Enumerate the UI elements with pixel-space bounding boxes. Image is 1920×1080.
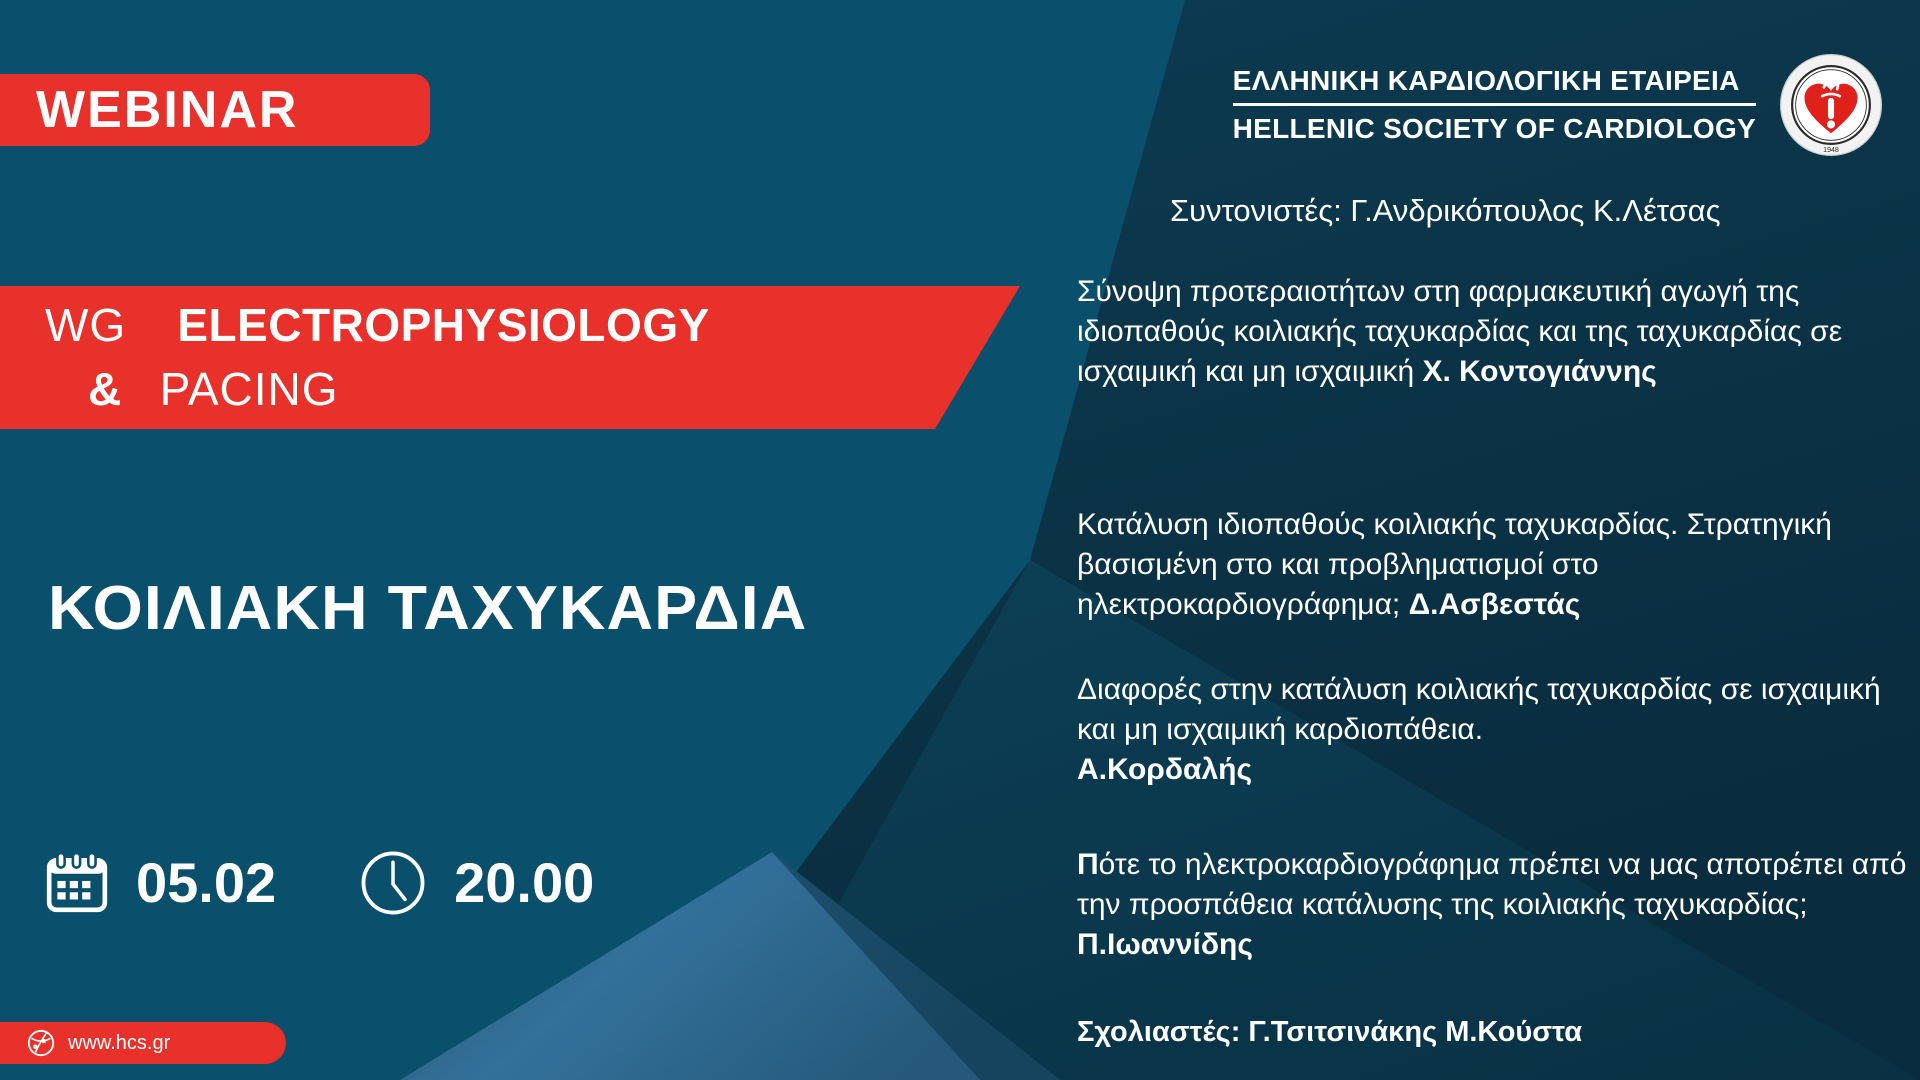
event-date: 05.02 bbox=[136, 855, 276, 911]
wg-name: ELECTROPHYSIOLOGY bbox=[177, 299, 709, 351]
moderators-line: Συντονιστές: Γ.Ανδρικόπουλος Κ.Λέτσας bbox=[1170, 192, 1721, 229]
talk-speaker: Χ. Κοντογιάννης bbox=[1422, 355, 1656, 388]
wg-prefix: WG bbox=[45, 299, 126, 351]
wg-second: PACING bbox=[160, 363, 339, 415]
program-panel: Συντονιστές: Γ.Ανδρικόπουλος Κ.Λέτσας Σύ… bbox=[1065, 0, 1920, 1080]
clock-icon bbox=[358, 848, 428, 918]
talk-speaker: Δ.Ασβεστάς bbox=[1409, 588, 1581, 621]
talk-speaker: Α.Κορδαλής bbox=[1077, 753, 1252, 786]
webinar-badge: WEBINAR bbox=[0, 74, 430, 146]
working-group-line-1: WG ELECTROPHYSIOLOGY bbox=[45, 302, 710, 348]
calendar-icon bbox=[44, 850, 110, 916]
event-time: 20.00 bbox=[454, 855, 594, 911]
wg-ampersand: & bbox=[88, 363, 121, 415]
talk-item: Διαφορές στην κατάλυση κοιλιακής ταχυκαρ… bbox=[1077, 670, 1917, 790]
poster-title: ΚΟΙΛΙΑΚΗ ΤΑΧΥΚΑΡΔΙΑ bbox=[48, 578, 807, 640]
webinar-label: WEBINAR bbox=[36, 84, 298, 136]
globe-icon bbox=[26, 1028, 56, 1058]
commentators-line: Σχολιαστές: Γ.Τσιτσινάκης Μ.Κούστα bbox=[1077, 1016, 1582, 1049]
website-url: www.hcs.gr bbox=[68, 1032, 170, 1055]
event-datetime: 05.02 20.00 bbox=[44, 848, 594, 918]
website-pill[interactable]: www.hcs.gr bbox=[0, 1022, 286, 1064]
talk-item: Πότε το ηλεκτροκαρδιογράφημα πρέπει να μ… bbox=[1077, 845, 1917, 965]
talk-title: Διαφορές στην κατάλυση κοιλιακής ταχυκαρ… bbox=[1077, 673, 1881, 746]
talk-item: Σύνοψη προτεραιοτήτων στη φαρμακευτική α… bbox=[1077, 272, 1917, 392]
talk-title: ότε το ηλεκτροκαρδιογράφημα πρέπει να μα… bbox=[1077, 848, 1906, 921]
working-group-line-2: & PACING bbox=[88, 366, 339, 412]
talk-item: Κατάλυση ιδιοπαθούς κοιλιακής ταχυκαρδία… bbox=[1077, 505, 1917, 625]
talk-speaker: Π.Ιωαννίδης bbox=[1077, 928, 1253, 961]
webinar-poster: WEBINAR WG ELECTROPHYSIOLOGY & PACING ΚΟ… bbox=[0, 0, 1920, 1080]
talk-lead-letter: Π bbox=[1077, 848, 1099, 881]
